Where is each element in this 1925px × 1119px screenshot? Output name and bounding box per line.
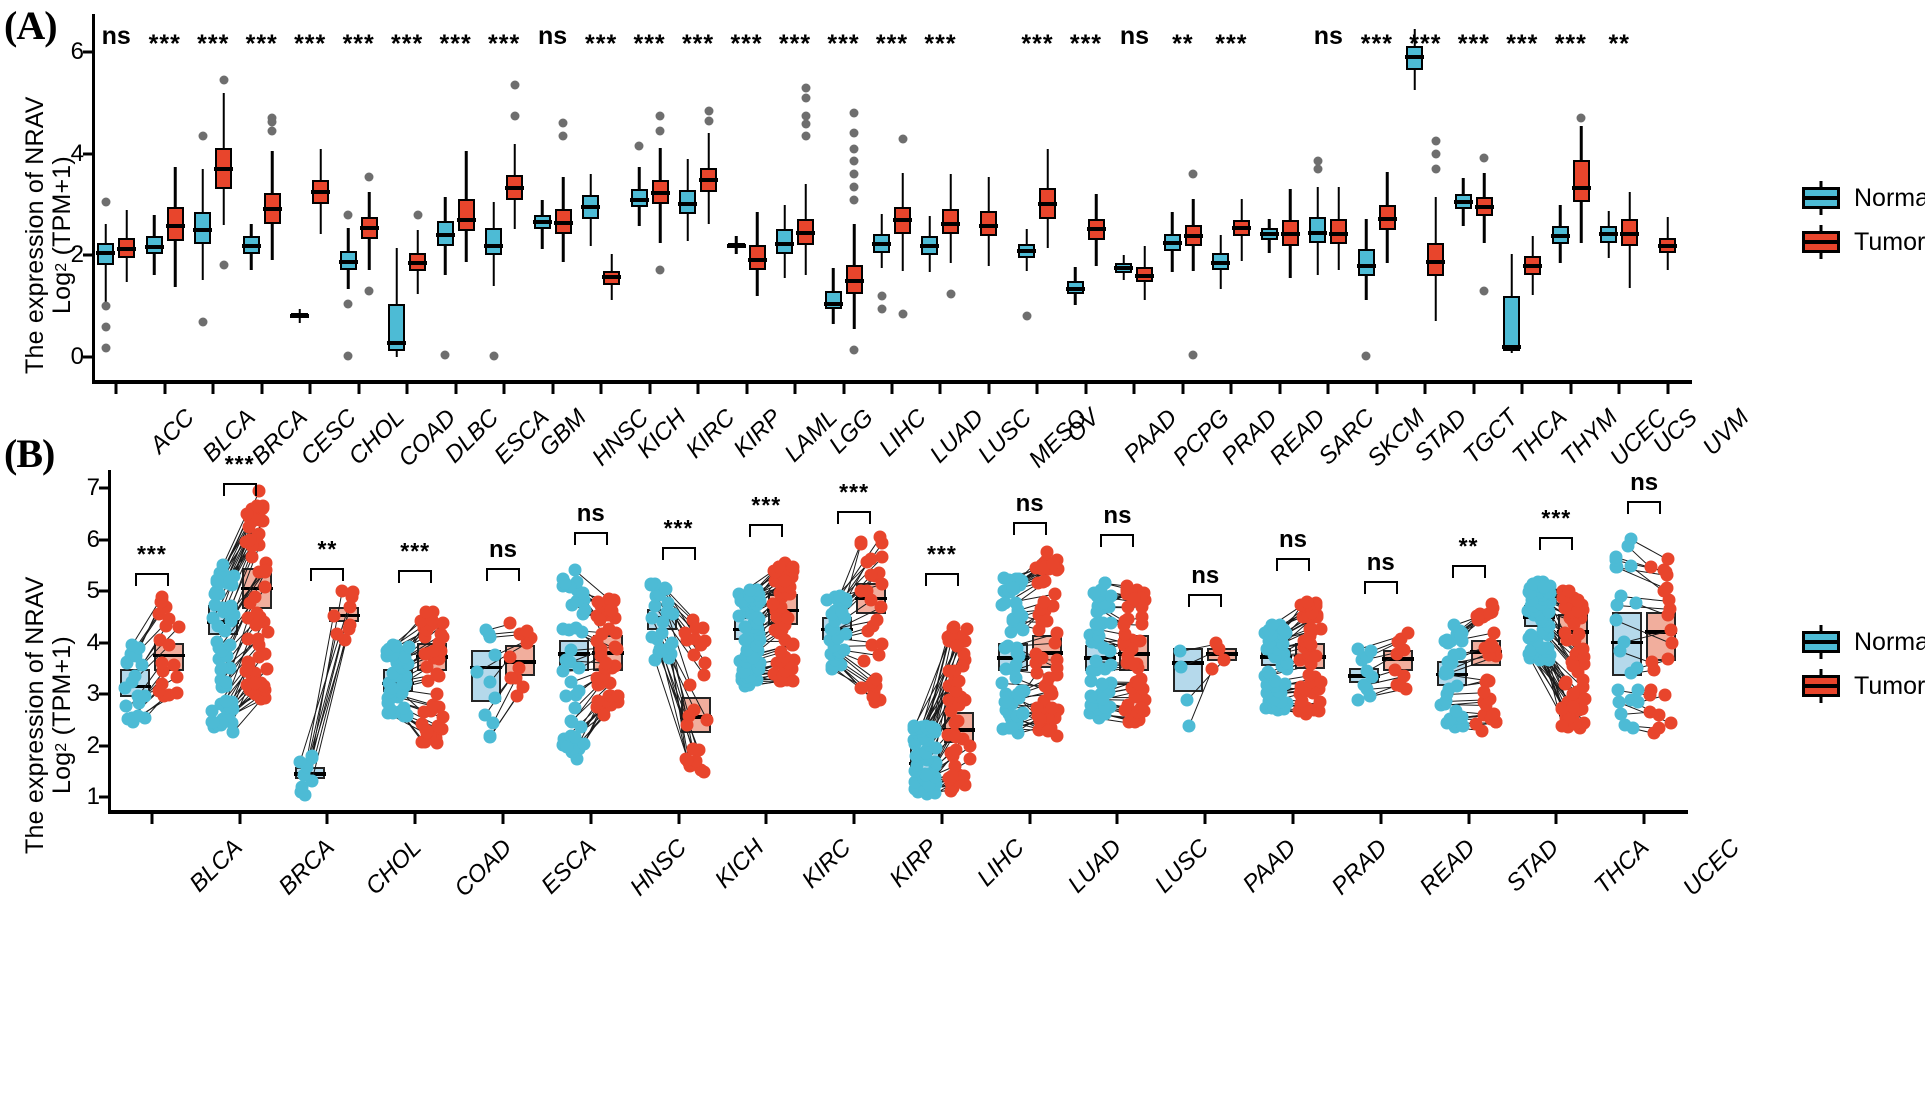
panel-b-point-tumor (434, 628, 447, 641)
panel-b-significance-label-blca: *** (137, 541, 167, 568)
panel-b-point-normal (122, 712, 135, 725)
outlier-point (850, 170, 859, 179)
panel-b-point-tumor (520, 624, 533, 637)
panel-b-y-tick-label: 6 (87, 528, 100, 552)
outlier-point (559, 119, 568, 128)
panel-a-boxplot-ucec-tumor (1573, 14, 1590, 380)
median-line (339, 260, 358, 264)
median-line (1308, 231, 1327, 235)
panel-b-point-normal (660, 583, 673, 596)
median-line (1620, 232, 1639, 236)
panel-b-point-tumor (336, 585, 349, 598)
panel-a-x-tick-mark (1084, 383, 1087, 394)
panel-b-plot-area: 1234567BLCA***BRCA***CHOL**COAD***ESCAns… (108, 470, 1688, 810)
panel-b-point-tumor (503, 617, 516, 630)
panel-b-point-tumor (858, 655, 871, 668)
panel-b-legend-label-tumor: Tumor (1854, 672, 1925, 701)
panel-a-boxplot-kirc-tumor (652, 14, 669, 380)
panel-b-point-tumor (1658, 689, 1671, 702)
outlier-point (877, 304, 886, 313)
panel-b-significance-bracket-esca (486, 568, 520, 581)
panel-a-y-axis-title-text: The expression of NRAVLog2 (TPM+1) (21, 96, 76, 374)
panel-b-point-tumor (865, 553, 878, 566)
panel-a-boxplot-skcm-normal (1309, 14, 1326, 380)
median-line (1260, 232, 1279, 236)
panel-b-point-normal (1610, 551, 1623, 564)
median-line (360, 226, 379, 230)
panel-b-x-tick-label-paad: PAAD (1238, 834, 1303, 899)
panel-a-x-tick-mark (1375, 383, 1378, 394)
panel-b-point-normal (995, 677, 1008, 690)
outlier-point (1022, 312, 1031, 321)
panel-b-x-tick-mark (1555, 813, 1558, 824)
panel-b-point-normal (1090, 618, 1103, 631)
outlier-point (441, 350, 450, 359)
panel-b-significance-bracket-read (1364, 581, 1398, 594)
median-line (796, 231, 815, 235)
panel-a-boxplot-ov-normal (1018, 14, 1035, 380)
panel-b-significance-bracket-luad (1013, 522, 1047, 535)
panel-b-point-tumor (855, 584, 868, 597)
panel-a-boxplot-tgct-tumor (1427, 14, 1444, 380)
panel-a-legend: NormalTumor (1800, 176, 1925, 264)
panel-a-boxplot-cesc-normal (243, 14, 260, 380)
outlier-point (365, 287, 374, 296)
panel-b-legend-swatch-tumor (1800, 669, 1842, 703)
panel-a-x-tick-mark (1424, 383, 1427, 394)
panel-b-point-normal (645, 611, 658, 624)
panel-a-x-tick-mark (1036, 383, 1039, 394)
panel-a-boxplot-ucs-normal (1600, 14, 1617, 380)
panel-b-point-normal (208, 588, 221, 601)
box (458, 199, 475, 232)
panel-a-boxplot-dlbc-tumor (409, 14, 426, 380)
panel-b-point-tumor (605, 603, 618, 616)
panel-b-point-tumor (1314, 622, 1327, 635)
panel-a-x-tick-label-lihc: LIHC (874, 404, 932, 462)
outlier-point (219, 260, 228, 269)
panel-b-point-normal (1612, 696, 1625, 709)
panel-a-legend-item-tumor[interactable]: Tumor (1800, 220, 1925, 264)
panel-b-point-normal (1087, 587, 1100, 600)
panel-b-point-tumor (1133, 677, 1146, 690)
outlier-point (704, 116, 713, 125)
panel-a-boxplot-laml-normal (728, 14, 745, 380)
panel-b-point-tumor (421, 725, 434, 738)
panel-b-point-tumor (1209, 637, 1222, 650)
panel-a-legend-item-normal[interactable]: Normal (1800, 176, 1925, 220)
median-line (145, 245, 164, 249)
outlier-point (365, 172, 374, 181)
panel-b-x-tick-label-hnsc: HNSC (625, 834, 693, 902)
panel-b-point-normal (397, 701, 410, 714)
panel-b-point-tumor (1483, 607, 1496, 620)
panel-b-point-tumor (591, 694, 604, 707)
panel-b-significance-label-kirp: *** (839, 479, 869, 506)
panel-b-point-tumor (610, 642, 623, 655)
panel-b-significance-bracket-kirp (837, 511, 871, 524)
panel-b-point-tumor (1661, 653, 1674, 666)
panel-a-boxplot-hnsc-tumor (555, 14, 572, 380)
panel-b-point-normal (1615, 707, 1628, 720)
median-line (845, 279, 864, 283)
panel-b-x-tick-mark (940, 813, 943, 824)
panel-a-x-tick-mark (1472, 383, 1475, 394)
panel-b-group-kirc: *** (722, 470, 810, 810)
panel-b-point-normal (556, 622, 569, 635)
panel-b-point-tumor (699, 656, 712, 669)
panel-b-point-tumor (171, 670, 184, 683)
panel-a-legend-swatch-tumor (1800, 225, 1842, 259)
outlier-point (635, 142, 644, 151)
panel-b-point-normal (998, 696, 1011, 709)
panel-b-x-tick-label-coad: COAD (450, 834, 519, 903)
panel-a-x-tick-mark (1278, 383, 1281, 394)
outlier-point (1577, 114, 1586, 123)
panel-b-x-tick-label-lihc: LIHC (972, 834, 1030, 892)
panel-a-boxplot-chol-normal (291, 14, 308, 380)
panel-b-significance-label-hnsc: ns (577, 500, 605, 528)
panel-b-point-tumor (1566, 701, 1579, 714)
panel-b-point-normal (1182, 719, 1195, 732)
panel-b-point-tumor (864, 594, 877, 607)
panel-a-boxplot-esca-normal (437, 14, 454, 380)
median-line (1523, 264, 1542, 268)
panel-b-point-normal (306, 749, 319, 762)
panel-b-point-normal (126, 639, 139, 652)
panel-b-point-tumor (1577, 674, 1590, 687)
panel-b-significance-bracket-prad (1276, 558, 1310, 571)
outlier-point (510, 111, 519, 120)
panel-b-point-normal (743, 584, 756, 597)
panel-b-point-tumor (1046, 558, 1059, 571)
outlier-point (344, 352, 353, 361)
median-line (1281, 232, 1300, 236)
outlier-point (801, 132, 810, 141)
box (825, 291, 842, 309)
panel-a-x-tick-mark (1230, 383, 1233, 394)
outlier-point (850, 195, 859, 204)
panel-a-boxplot-hnsc-normal (534, 14, 551, 380)
panel-b-point-tumor (1127, 657, 1140, 670)
panel-a-x-tick-mark (745, 383, 748, 394)
panel-b-point-tumor (427, 644, 440, 657)
outlier-point (1431, 137, 1440, 146)
legend-median (1802, 240, 1840, 244)
panel-b-point-normal (1007, 581, 1020, 594)
panel-b-point-normal (484, 730, 497, 743)
panel-b-significance-bracket-blca (135, 573, 169, 586)
panel-a-boxplot-read-normal (1212, 14, 1229, 380)
median-line (1232, 226, 1251, 230)
panel-b-point-tumor (155, 591, 168, 604)
panel-a-x-tick-mark (1618, 383, 1621, 394)
panel-a-boxplot-ov-tumor (1039, 14, 1056, 380)
panel-a-x-tick-label-kirc: KIRC (680, 404, 740, 464)
outlier-point (101, 343, 110, 352)
panel-b-x-tick-mark (414, 813, 417, 824)
outlier-point (850, 109, 859, 118)
median-line (824, 302, 843, 306)
panel-a-boxplot-laml-tumor (749, 14, 766, 380)
panel-b-y-tick-mark (99, 538, 108, 541)
panel-a-boxplot-stad-tumor (1379, 14, 1396, 380)
panel-b-point-normal (833, 590, 846, 603)
panel-b-point-tumor (330, 627, 343, 640)
panel-a-x-tick-mark (454, 383, 457, 394)
panel-b-point-normal (655, 627, 668, 640)
median-line (484, 244, 503, 248)
panel-b-significance-bracket-kirc (749, 524, 783, 537)
panel-a-x-tick-mark (260, 383, 263, 394)
panel-b-point-normal (210, 573, 223, 586)
panel-a-y-axis-title: The expression of NRAVLog2 (TPM+1) (22, 70, 76, 400)
median-line (872, 242, 891, 246)
median-line (408, 261, 427, 265)
panel-a-boxplot-kirp-tumor (700, 14, 717, 380)
median-line (1551, 234, 1570, 238)
panel-b-group-ucec: ns (1600, 470, 1688, 810)
median-line (893, 218, 912, 222)
panel-b-point-tumor (875, 577, 888, 590)
panel-b-x-tick-mark (1116, 813, 1119, 824)
panel-b-point-tumor (431, 688, 444, 701)
outlier-point (268, 126, 277, 135)
outlier-point (198, 317, 207, 326)
outlier-point (801, 93, 810, 102)
panel-b-x-tick-label-prad: PRAD (1327, 834, 1394, 901)
panel-b-group-read: ns (1337, 470, 1425, 810)
panel-b-legend-label-normal: Normal (1854, 628, 1925, 657)
panel-a-boxplot-meso-tumor (980, 14, 997, 380)
median-line (263, 207, 282, 211)
panel-b-y-tick-mark (99, 590, 108, 593)
panel-b-point-tumor (1051, 626, 1064, 639)
median-line (457, 218, 476, 222)
panel-a-boxplot-sarc-tumor (1282, 14, 1299, 380)
panel-b-point-tumor (874, 530, 887, 543)
outlier-point (101, 322, 110, 331)
panel-a-letter: (A) (4, 2, 57, 49)
panel-b-point-normal (564, 675, 577, 688)
median-line (775, 242, 794, 246)
figure-root: (A) The expression of NRAVLog2 (TPM+1) 0… (0, 0, 1925, 1119)
panel-b-y-tick-label: 3 (87, 682, 100, 706)
panel-b-point-tumor (786, 560, 799, 573)
panel-b-x-tick-mark (1467, 813, 1470, 824)
panel-b-point-normal (216, 662, 229, 675)
outlier-point (1431, 149, 1440, 158)
panel-a-y-tick-mark (83, 152, 92, 155)
panel-a-boxplot-kirp-normal (679, 14, 696, 380)
panel-b-point-tumor (1050, 661, 1063, 674)
outlier-point (219, 76, 228, 85)
panel-b-point-normal (665, 637, 678, 650)
panel-b-group-chol: ** (284, 470, 372, 810)
panel-b-y-tick-label: 7 (87, 476, 100, 500)
median-line (1454, 200, 1473, 204)
panel-b-x-axis-line (108, 810, 1688, 814)
panel-b-legend-item-normal[interactable]: Normal (1800, 620, 1925, 664)
outlier-point (344, 299, 353, 308)
panel-b-x-tick-label-read: READ (1414, 834, 1481, 901)
panel-a-x-tick-mark (212, 383, 215, 394)
median-line (748, 258, 767, 262)
panel-b-point-normal (1261, 666, 1274, 679)
panel-b-point-normal (402, 641, 415, 654)
panel-a-x-tick-mark (115, 383, 118, 394)
panel-b-point-tumor (152, 684, 165, 697)
median-line (1017, 249, 1036, 253)
panel-b-significance-bracket-hnsc (574, 532, 608, 545)
panel-b-point-normal (1085, 690, 1098, 703)
panel-b-group-blca: *** (108, 470, 196, 810)
panel-b-point-normal (569, 564, 582, 577)
panel-a-y-tick-mark (83, 254, 92, 257)
panel-b-point-tumor (1128, 592, 1141, 605)
panel-b-legend-item-tumor[interactable]: Tumor (1800, 664, 1925, 708)
panel-b-point-tumor (1578, 692, 1591, 705)
panel-b-point-normal (1615, 589, 1628, 602)
median-line (1184, 234, 1203, 238)
panel-b-point-tumor (1665, 637, 1678, 650)
panel-b-point-tumor (963, 740, 976, 753)
outlier-point (344, 210, 353, 219)
panel-b-point-tumor (248, 677, 261, 690)
panel-a-boxplot-cesc-tumor (264, 14, 281, 380)
outlier-point (704, 106, 713, 115)
panel-a-boxplot-gbm-tumor (506, 14, 523, 380)
panel-b-point-normal (1351, 694, 1364, 707)
panel-b-point-tumor (951, 639, 964, 652)
panel-b-point-tumor (1571, 594, 1584, 607)
median-line (436, 233, 455, 237)
panel-b-point-tumor (854, 681, 867, 694)
panel-b-point-tumor (692, 744, 705, 757)
panel-b-point-tumor (611, 690, 624, 703)
panel-a-boxplot-chol-tumor (312, 14, 329, 380)
panel-b-group-thca: *** (1512, 470, 1600, 810)
panel-b-significance-label-chol: ** (317, 536, 337, 563)
panel-b-significance-label-kich: *** (664, 515, 694, 542)
outlier-point (559, 132, 568, 141)
panel-b-point-tumor (1478, 642, 1491, 655)
panel-a-boxplot-kirc-normal (631, 14, 648, 380)
outlier-point (850, 157, 859, 166)
panel-a-x-tick-mark (1181, 383, 1184, 394)
panel-b-point-normal (1095, 677, 1108, 690)
panel-a-x-tick-mark (697, 383, 700, 394)
outlier-point (801, 111, 810, 120)
median-line (1357, 264, 1376, 268)
panel-a-legend-swatch-normal (1800, 181, 1842, 215)
panel-b-point-normal (1630, 596, 1643, 609)
panel-b-point-tumor (419, 605, 432, 618)
panel-a-x-tick-label-read: READ (1265, 404, 1332, 471)
panel-b-significance-label-prad: ns (1279, 526, 1307, 554)
panel-b-point-tumor (948, 621, 961, 634)
panel-a-legend-label-normal: Normal (1854, 184, 1925, 213)
panel-b-point-tumor (1034, 712, 1047, 725)
panel-a-boxplot-paad-normal (1067, 14, 1084, 380)
panel-b-x-tick-mark (677, 813, 680, 824)
outlier-point (801, 83, 810, 92)
panel-b-point-tumor (1567, 659, 1580, 672)
panel-a-x-tick-mark (406, 383, 409, 394)
panel-b-significance-bracket-ucec (1627, 501, 1661, 514)
panel-b-x-tick-mark (589, 813, 592, 824)
panel-b-significance-label-ucec: ns (1630, 469, 1658, 497)
panel-b-point-tumor (244, 533, 257, 546)
panel-a-boxplot-dlbc-normal (388, 14, 405, 380)
panel-b-point-normal (224, 639, 237, 652)
panel-b-x-tick-label-stad: STAD (1501, 834, 1565, 898)
outlier-point (656, 265, 665, 274)
panel-b-point-tumor (1118, 618, 1131, 631)
panel-b-point-normal (559, 690, 572, 703)
median-line (1066, 287, 1085, 291)
panel-a-boxplot-ucec-normal (1552, 14, 1569, 380)
panel-a-x-tick-mark (794, 383, 797, 394)
outlier-point (101, 302, 110, 311)
panel-a-boxplot-kich-tumor (603, 14, 620, 380)
panel-b-point-tumor (344, 618, 357, 631)
panel-b-point-normal (1617, 636, 1630, 649)
panel-b-y-tick-label: 2 (87, 734, 100, 758)
panel-b-point-normal (999, 662, 1012, 675)
median-line (242, 244, 261, 248)
box (485, 228, 502, 256)
panel-b-point-tumor (1314, 675, 1327, 688)
panel-b-point-normal (1277, 623, 1290, 636)
panel-b-point-tumor (1665, 624, 1678, 637)
outlier-point (1362, 352, 1371, 361)
outlier-point (877, 292, 886, 301)
panel-b-point-tumor (241, 656, 254, 669)
median-line (1038, 202, 1057, 206)
panel-b-point-tumor (688, 703, 701, 716)
panel-b-point-tumor (1043, 685, 1056, 698)
panel-b-y-axis-title-text: The expression of NRAVLog2 (TPM+1) (21, 576, 76, 854)
median-line (1475, 205, 1494, 209)
panel-a-boxplot-luad-normal (873, 14, 890, 380)
median-line (727, 244, 746, 248)
panel-a-x-tick-label-luad: LUAD (925, 404, 990, 469)
panel-b-point-normal (479, 708, 492, 721)
median-line (581, 205, 600, 209)
panel-b-point-tumor (1049, 587, 1062, 600)
panel-a-x-tick-mark (551, 383, 554, 394)
panel-a-boxplot-read-tumor (1233, 14, 1250, 380)
panel-b-point-tumor (437, 617, 450, 630)
outlier-point (850, 129, 859, 138)
outlier-point (898, 134, 907, 143)
panel-b-point-normal (1104, 616, 1117, 629)
panel-b-x-tick-label-brca: BRCA (273, 834, 340, 901)
panel-a-x-tick-label-cesc: CESC (295, 404, 362, 471)
panel-b-point-tumor (1471, 613, 1484, 626)
panel-b-x-tick-mark (1643, 813, 1646, 824)
panel-b-point-normal (1612, 683, 1625, 696)
panel-b-point-tumor (1038, 596, 1051, 609)
panel-a-boxplot-lgg-normal (776, 14, 793, 380)
panel-b-x-tick-label-thca: THCA (1589, 834, 1655, 900)
panel-b-significance-label-lihc: *** (927, 541, 957, 568)
panel-b-legend: NormalTumor (1800, 620, 1925, 708)
panel-b-point-tumor (1558, 678, 1571, 691)
panel-a-boxplot-lusc-tumor (942, 14, 959, 380)
panel-b-point-tumor (259, 564, 272, 577)
